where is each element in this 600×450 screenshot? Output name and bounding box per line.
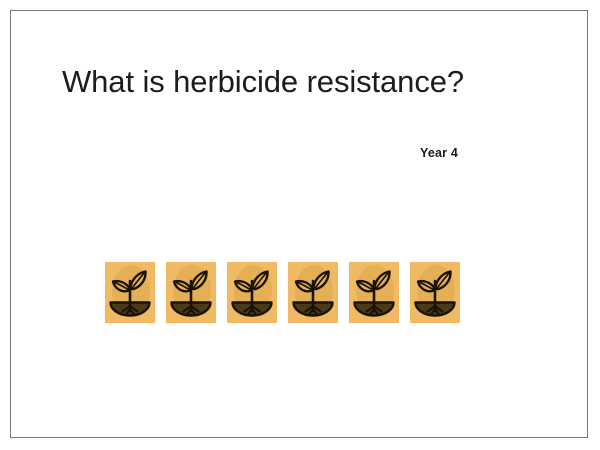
seedling-tile <box>166 262 216 323</box>
seedling-icon <box>349 262 399 323</box>
seedling-icon <box>166 262 216 323</box>
seedling-icon <box>105 262 155 323</box>
seedling-icon <box>227 262 277 323</box>
slide-canvas: What is herbicide resistance? Year 4 <box>0 0 600 450</box>
seedling-icon-row <box>105 262 460 323</box>
seedling-icon <box>288 262 338 323</box>
page-title: What is herbicide resistance? <box>62 64 542 100</box>
seedling-icon <box>410 262 460 323</box>
year-label: Year 4 <box>420 146 458 160</box>
seedling-tile <box>410 262 460 323</box>
seedling-tile <box>227 262 277 323</box>
seedling-tile <box>105 262 155 323</box>
seedling-tile <box>288 262 338 323</box>
seedling-tile <box>349 262 399 323</box>
